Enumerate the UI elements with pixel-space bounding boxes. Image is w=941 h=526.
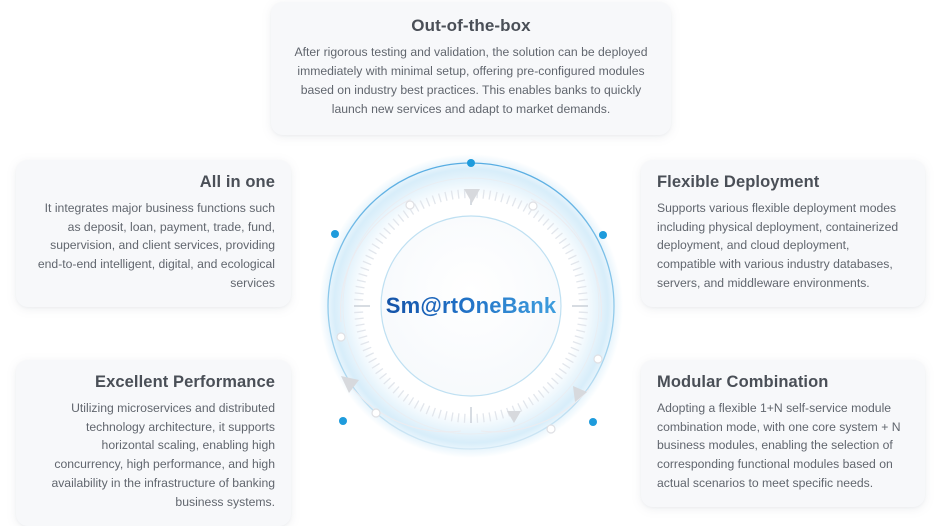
feature-card-body: Supports various flexible deployment mod… (657, 199, 909, 294)
feature-card-modular-combination[interactable]: Modular Combination Adopting a flexible … (641, 360, 925, 507)
arc-endpoint (547, 425, 555, 433)
arc-endpoint (337, 333, 345, 341)
ring-node (467, 159, 475, 167)
arc-endpoint (594, 355, 602, 363)
feature-card-out-of-the-box[interactable]: Out-of-the-box After rigorous testing an… (271, 2, 671, 135)
ring-node (599, 231, 607, 239)
feature-card-body: Utilizing microservices and distributed … (32, 399, 275, 512)
feature-card-title: Flexible Deployment (657, 172, 909, 193)
feature-card-all-in-one[interactable]: All in one It integrates major business … (16, 160, 291, 307)
feature-overview-canvas: Sm@rtOneBank Out-of-the-box After rigoro… (0, 0, 941, 500)
feature-card-title: All in one (32, 172, 275, 193)
arc-endpoint (529, 202, 537, 210)
feature-card-body: After rigorous testing and validation, t… (289, 43, 653, 119)
feature-card-title: Modular Combination (657, 372, 909, 393)
feature-card-excellent-performance[interactable]: Excellent Performance Utilizing microser… (16, 360, 291, 526)
ring-node (339, 417, 347, 425)
arc-endpoint (372, 409, 380, 417)
feature-card-flexible-deployment[interactable]: Flexible Deployment Supports various fle… (641, 160, 925, 307)
feature-card-title: Excellent Performance (32, 372, 275, 393)
emblem-inner-disc (381, 216, 561, 396)
ring-node (331, 230, 339, 238)
feature-card-title: Out-of-the-box (289, 15, 653, 36)
arc-endpoint (406, 201, 414, 209)
central-emblem: Sm@rtOneBank (311, 146, 631, 466)
ring-node (589, 418, 597, 426)
feature-card-body: Adopting a flexible 1+N self-service mod… (657, 399, 909, 494)
feature-card-body: It integrates major business functions s… (32, 199, 275, 294)
